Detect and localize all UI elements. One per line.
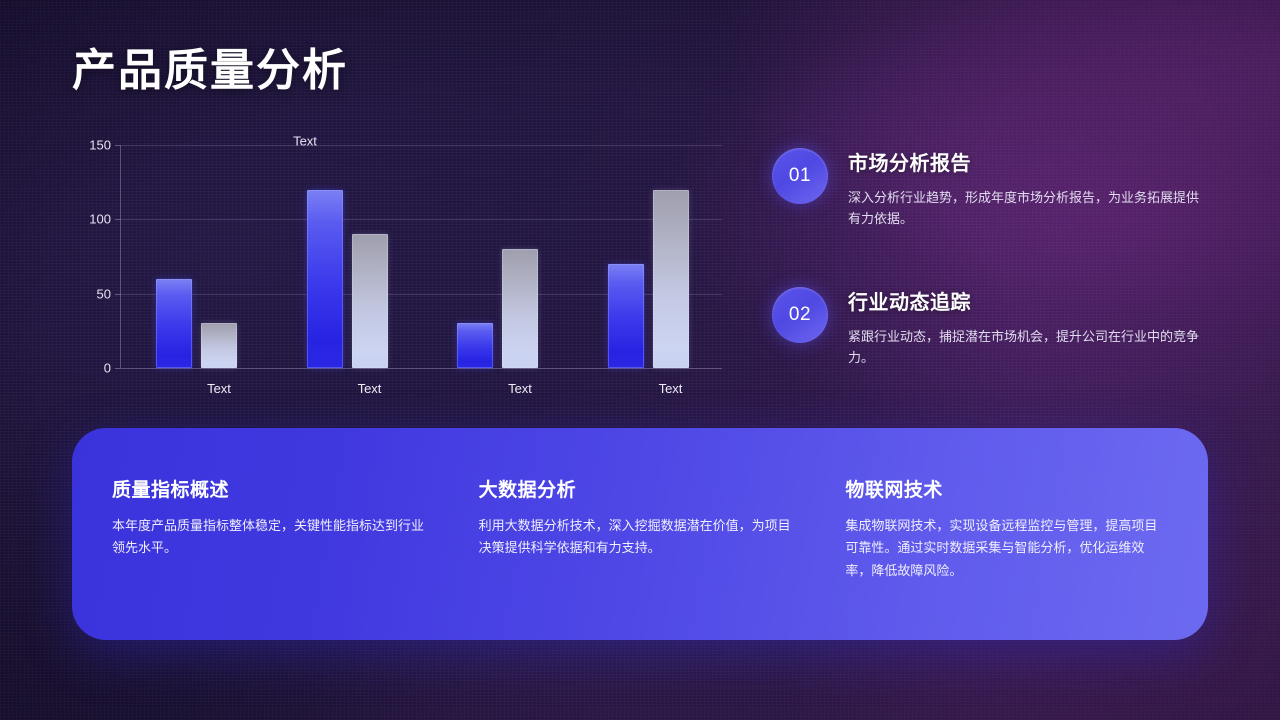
- list-item-title: 市场分析报告: [848, 147, 1200, 176]
- summary-column-description: 集成物联网技术，实现设备远程监控与管理，提高项目可靠性。通过实时数据采集与智能分…: [845, 515, 1165, 582]
- bar-group: Text: [572, 145, 723, 368]
- list-item-description: 紧跟行业动态，捕捉潜在市场机会，提升公司在行业中的竞争力。: [848, 326, 1200, 368]
- y-tick-label: 100: [89, 212, 111, 227]
- summary-column: 大数据分析利用大数据分析技术，深入挖掘数据潜在价值，为项目决策提供科学依据和有力…: [479, 475, 846, 640]
- x-tick-label: Text: [508, 381, 532, 396]
- bar[interactable]: [352, 234, 388, 368]
- x-tick-label: Text: [207, 381, 231, 396]
- chart-plot-area: 050100150 Text TextTextTextText: [120, 145, 722, 368]
- x-tick-label: Text: [358, 381, 382, 396]
- page-title: 产品质量分析: [72, 47, 348, 95]
- y-tick-label: 150: [89, 138, 111, 153]
- bar[interactable]: [653, 190, 689, 368]
- bar[interactable]: [502, 249, 538, 368]
- bar[interactable]: [201, 323, 237, 368]
- bar-group: Text: [120, 145, 271, 368]
- list-item[interactable]: 02行业动态追踪紧跟行业动态，捕捉潜在市场机会，提升公司在行业中的竞争力。: [772, 285, 1212, 368]
- list-item[interactable]: 01市场分析报告深入分析行业趋势，形成年度市场分析报告，为业务拓展提供有力依据。: [772, 146, 1212, 229]
- summary-panel: 质量指标概述本年度产品质量指标整体稳定，关键性能指标达到行业领先水平。大数据分析…: [72, 428, 1208, 640]
- list-item-body: 市场分析报告深入分析行业趋势，形成年度市场分析报告，为业务拓展提供有力依据。: [848, 146, 1200, 229]
- y-tick-mark: [115, 368, 120, 369]
- summary-column-title: 大数据分析: [479, 475, 802, 502]
- summary-column: 质量指标概述本年度产品质量指标整体稳定，关键性能指标达到行业领先水平。: [112, 475, 479, 640]
- bar-group: Text: [271, 145, 422, 368]
- list-item-description: 深入分析行业趋势，形成年度市场分析报告，为业务拓展提供有力依据。: [848, 187, 1200, 229]
- summary-column-title: 物联网技术: [845, 475, 1168, 502]
- bar[interactable]: [608, 264, 644, 368]
- bar[interactable]: [307, 190, 343, 368]
- y-tick-label: 50: [97, 286, 111, 301]
- y-tick-label: 0: [104, 361, 111, 376]
- bar[interactable]: [156, 279, 192, 368]
- bar[interactable]: [457, 323, 493, 368]
- summary-column-title: 质量指标概述: [112, 475, 435, 502]
- bar-chart: 050100150 Text TextTextTextText: [72, 132, 722, 404]
- list-item-number-badge: 01: [772, 148, 828, 204]
- summary-column-description: 本年度产品质量指标整体稳定，关键性能指标达到行业领先水平。: [112, 515, 432, 560]
- list-item-body: 行业动态追踪紧跟行业动态，捕捉潜在市场机会，提升公司在行业中的竞争力。: [848, 285, 1200, 368]
- highlight-list: 01市场分析报告深入分析行业趋势，形成年度市场分析报告，为业务拓展提供有力依据。…: [772, 146, 1212, 368]
- list-item-number-badge: 02: [772, 287, 828, 343]
- summary-column-description: 利用大数据分析技术，深入挖掘数据潜在价值，为项目决策提供科学依据和有力支持。: [479, 515, 799, 560]
- bar-group: Text: [421, 145, 572, 368]
- list-item-title: 行业动态追踪: [848, 286, 1200, 315]
- gridline: [120, 368, 722, 369]
- summary-column: 物联网技术集成物联网技术，实现设备远程监控与管理，提高项目可靠性。通过实时数据采…: [845, 475, 1168, 640]
- x-tick-label: Text: [659, 381, 683, 396]
